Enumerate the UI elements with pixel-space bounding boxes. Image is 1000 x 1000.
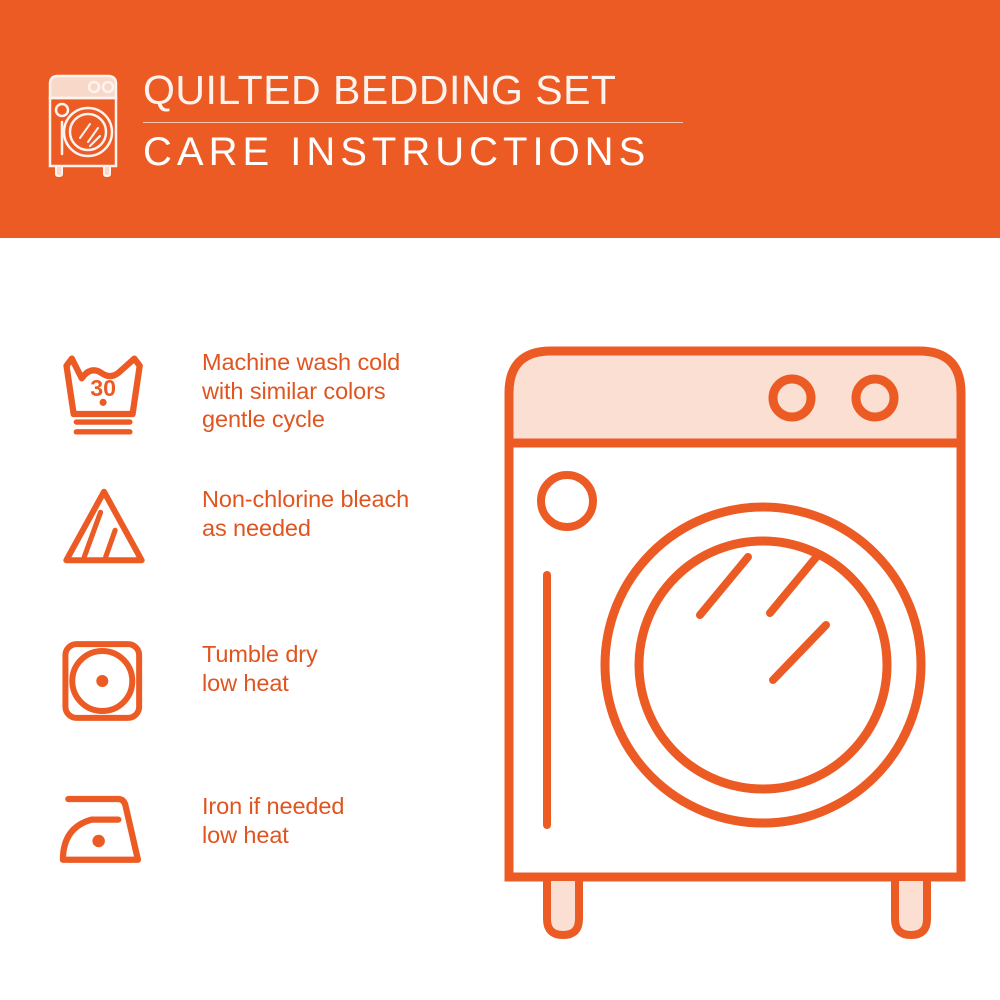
bleach-triangle-icon (48, 483, 160, 569)
iron-icon (48, 790, 160, 867)
wash-tub-icon: 30 (48, 346, 160, 440)
washing-machine-logo-icon (44, 72, 122, 178)
machine-leg-right (895, 877, 927, 935)
care-label-dry: Tumble dry low heat (202, 638, 318, 697)
care-label-iron: Iron if needed low heat (202, 790, 344, 849)
header-text-block: QUILTED BEDDING SET CARE INSTRUCTIONS (143, 65, 703, 176)
page-subtitle: CARE INSTRUCTIONS (143, 128, 703, 176)
care-row-iron: Iron if needed low heat (0, 790, 500, 867)
care-row-dry: Tumble dry low heat (0, 638, 500, 724)
care-row-wash: 30 Machine wash cold with similar colors… (0, 346, 500, 440)
page-title: QUILTED BEDDING SET (143, 65, 703, 115)
care-label-wash: Machine wash cold with similar colors ge… (202, 346, 400, 434)
machine-leg-left (547, 877, 579, 935)
page-header: QUILTED BEDDING SET CARE INSTRUCTIONS (0, 0, 1000, 238)
title-divider (143, 122, 683, 123)
wash-temperature-value: 30 (90, 375, 116, 401)
care-instruction-list: 30 Machine wash cold with similar colors… (0, 238, 500, 1000)
care-label-bleach: Non-chlorine bleach as needed (202, 483, 409, 542)
care-row-bleach: Non-chlorine bleach as needed (0, 483, 500, 569)
tumble-dry-icon (48, 638, 160, 724)
washing-machine-illustration (495, 335, 975, 945)
care-instructions-page: QUILTED BEDDING SET CARE INSTRUCTIONS 30… (0, 0, 1000, 1000)
